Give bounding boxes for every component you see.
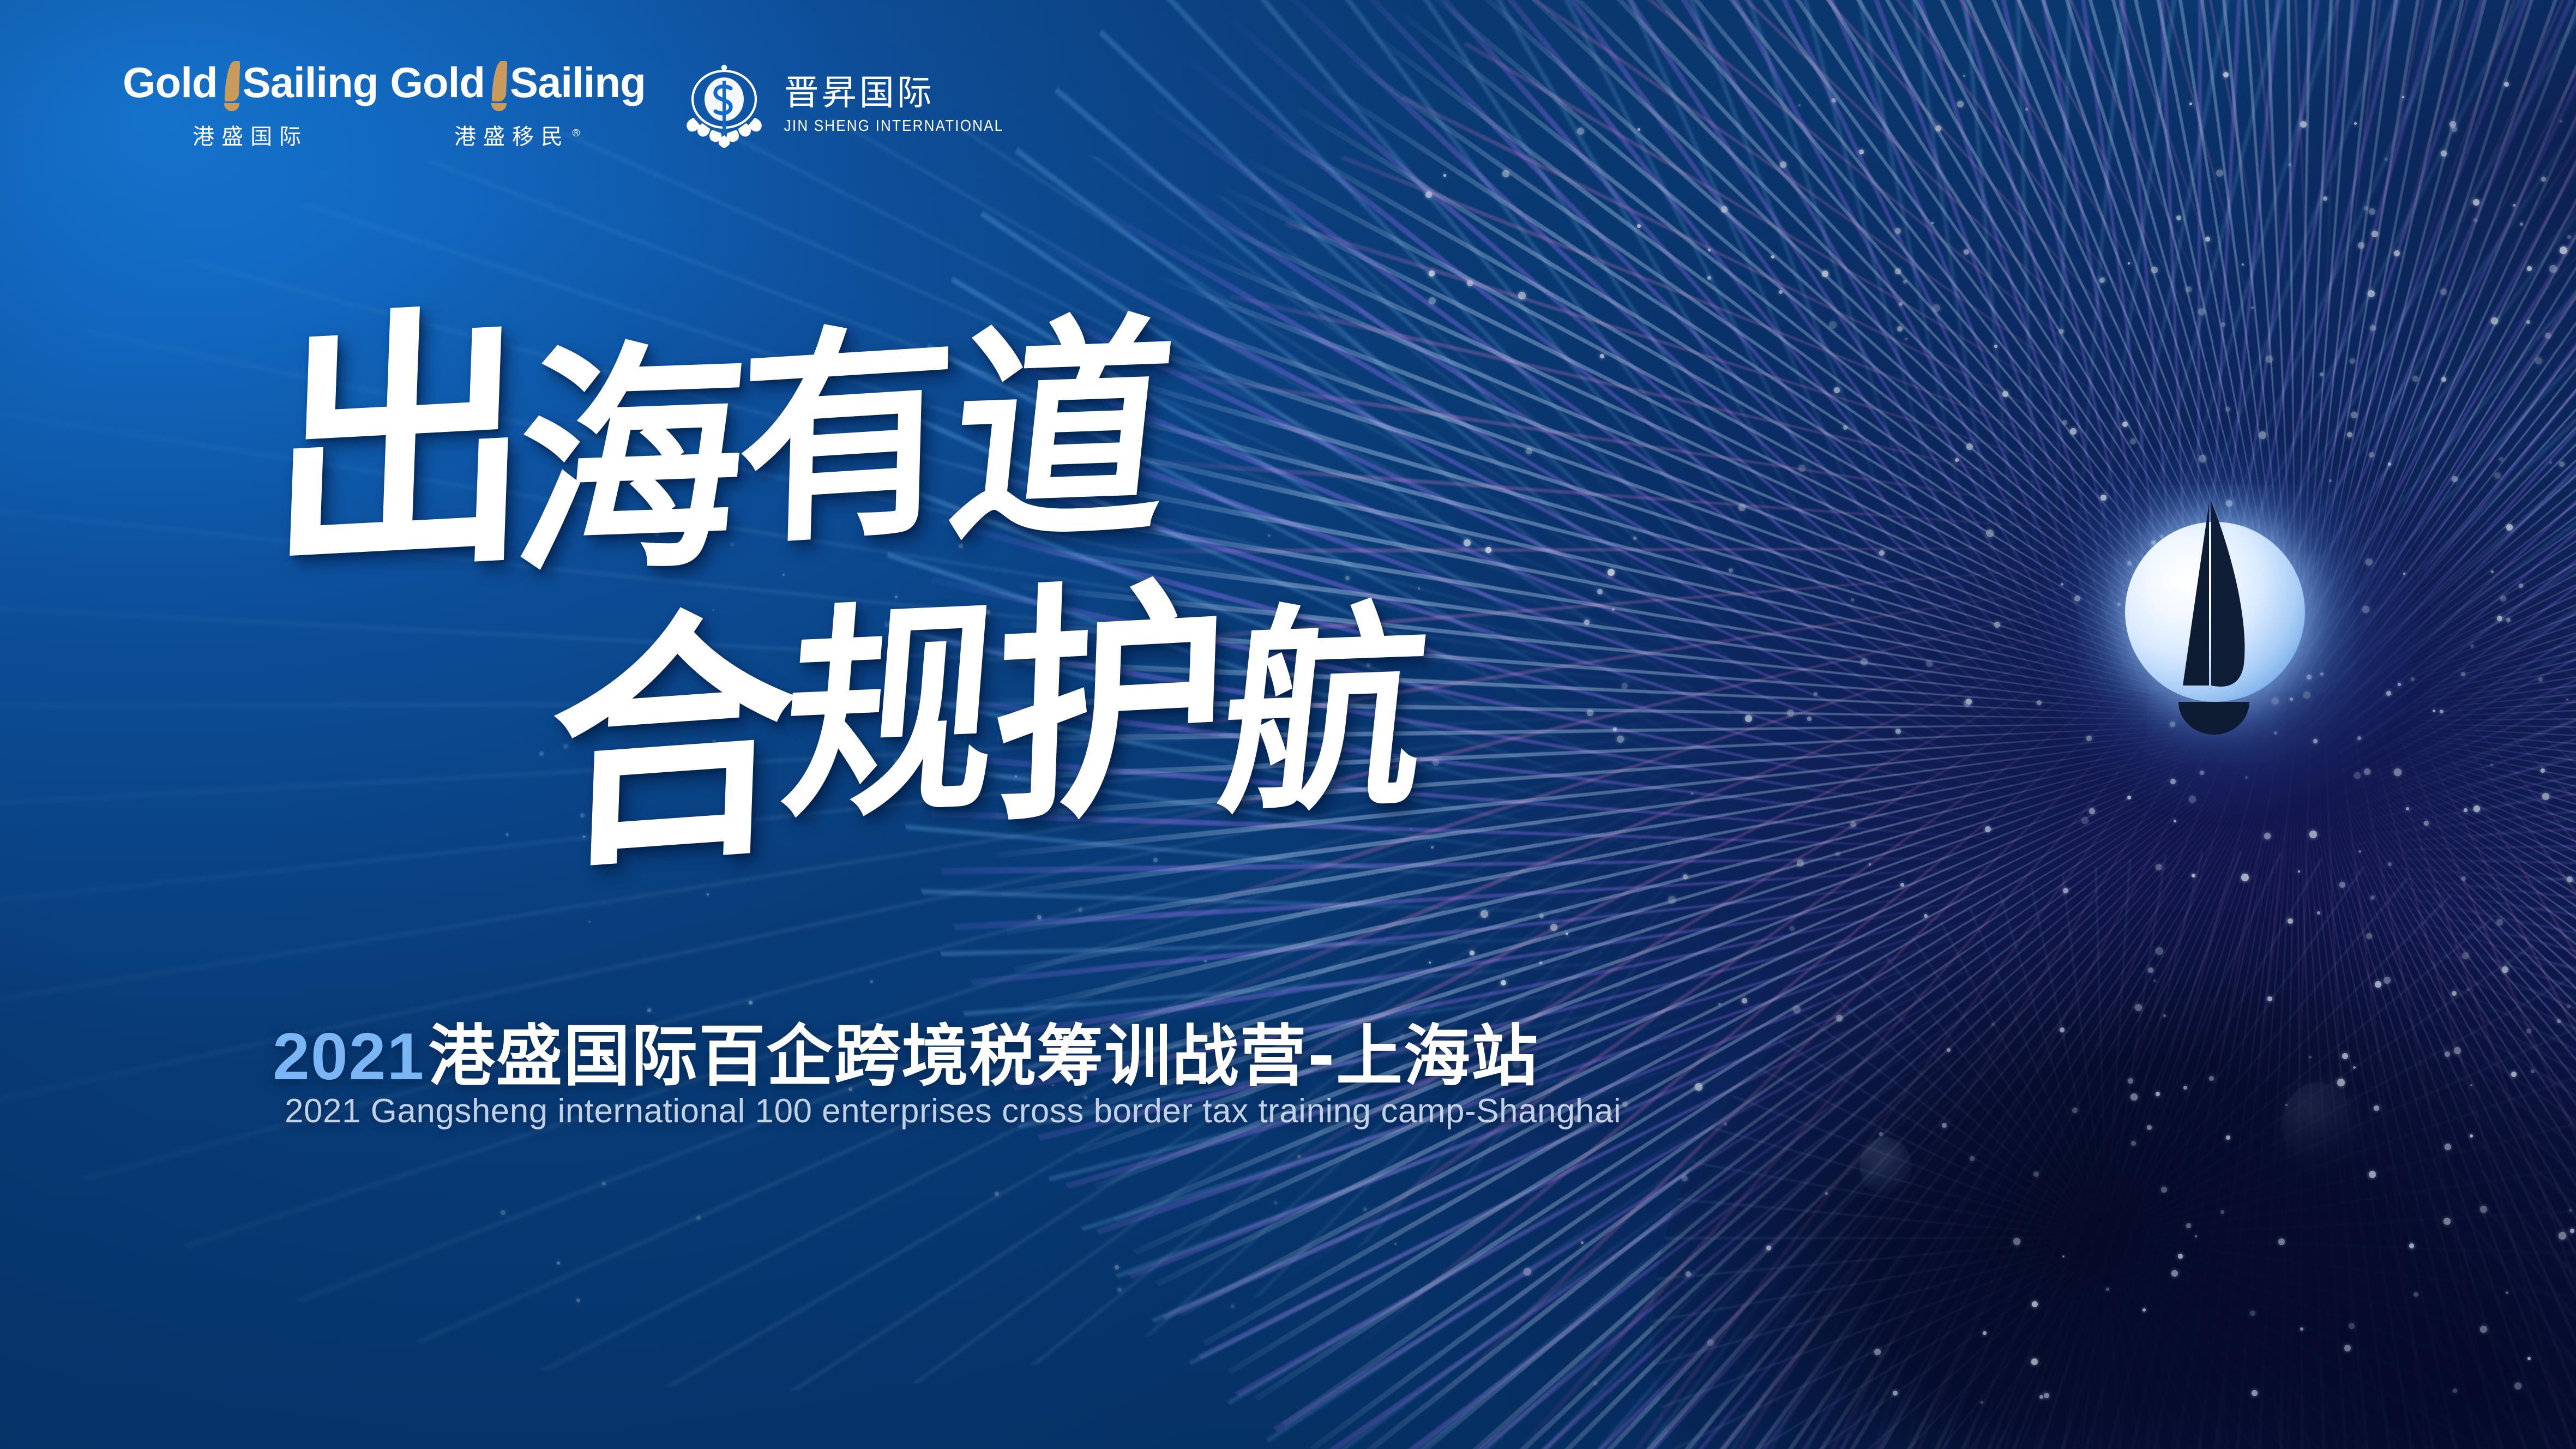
title-line-2: 合 规 护 航 [551,605,1428,841]
crest-text: 晋昇国际 JIN SHENG INTERNATIONAL [784,75,1004,134]
title-char: 航 [1209,603,1436,854]
title-char: 有 [735,322,959,590]
title-line-1: 出 海 有 道 [273,322,1172,568]
logo-word-gold: Gold [390,61,485,104]
logo-wordmark: Gold Sailing [390,61,645,113]
logo-jin-sheng-international[interactable]: 晋昇国际 JIN SHENG INTERNATIONAL [678,59,1004,151]
logo-chinese-name: 港盛移民® [454,119,581,151]
trademark-icon: ® [571,127,581,139]
event-banner: Gold Sailing 港盛国际 Gold Sailing 港盛移民® [0,0,2576,1449]
logo-bar: Gold Sailing 港盛国际 Gold Sailing 港盛移民® [123,59,1003,151]
crest-chinese-name: 晋昇国际 [784,75,1004,112]
title-char: 海 [504,342,754,606]
logo-chinese-text: 港盛移民 [454,124,570,149]
subtitle-chinese-text: 港盛国际百企跨境税筹训战营-上海站 [428,1018,1539,1095]
laurel-crest-s-monogram-icon [678,59,770,151]
subtitle-year: 2021 [273,1019,425,1093]
logo-word-sailing: Sailing [243,61,378,104]
page-title: 出 海 有 道 合 规 护 航 [262,322,1701,971]
sailboat-moon-artwork [2102,494,2353,777]
gold-sail-icon [487,61,509,113]
logo-gold-sailing-immigration[interactable]: Gold Sailing 港盛移民® [390,61,645,151]
logo-chinese-name: 港盛国际 [192,119,308,151]
title-char: 规 [774,599,1005,854]
logo-wordmark: Gold Sailing [123,61,378,113]
sailboat-silhouette-icon [2102,494,2353,777]
title-char: 出 [266,307,535,582]
logo-gold-sailing-international[interactable]: Gold Sailing 港盛国际 [123,61,378,151]
logo-word-gold: Gold [123,61,218,104]
gold-sail-icon [220,61,242,113]
subtitle-english: 2021 Gangsheng international 100 enterpr… [285,1092,1621,1131]
logo-word-sailing: Sailing [510,61,646,104]
title-char: 护 [989,579,1231,842]
crest-english-name: JIN SHENG INTERNATIONAL [784,116,1004,135]
title-char: 合 [546,608,799,879]
subtitle-chinese: 2021港盛国际百企跨境税筹训战营-上海站 [273,1002,1539,1099]
title-char: 道 [937,316,1181,583]
